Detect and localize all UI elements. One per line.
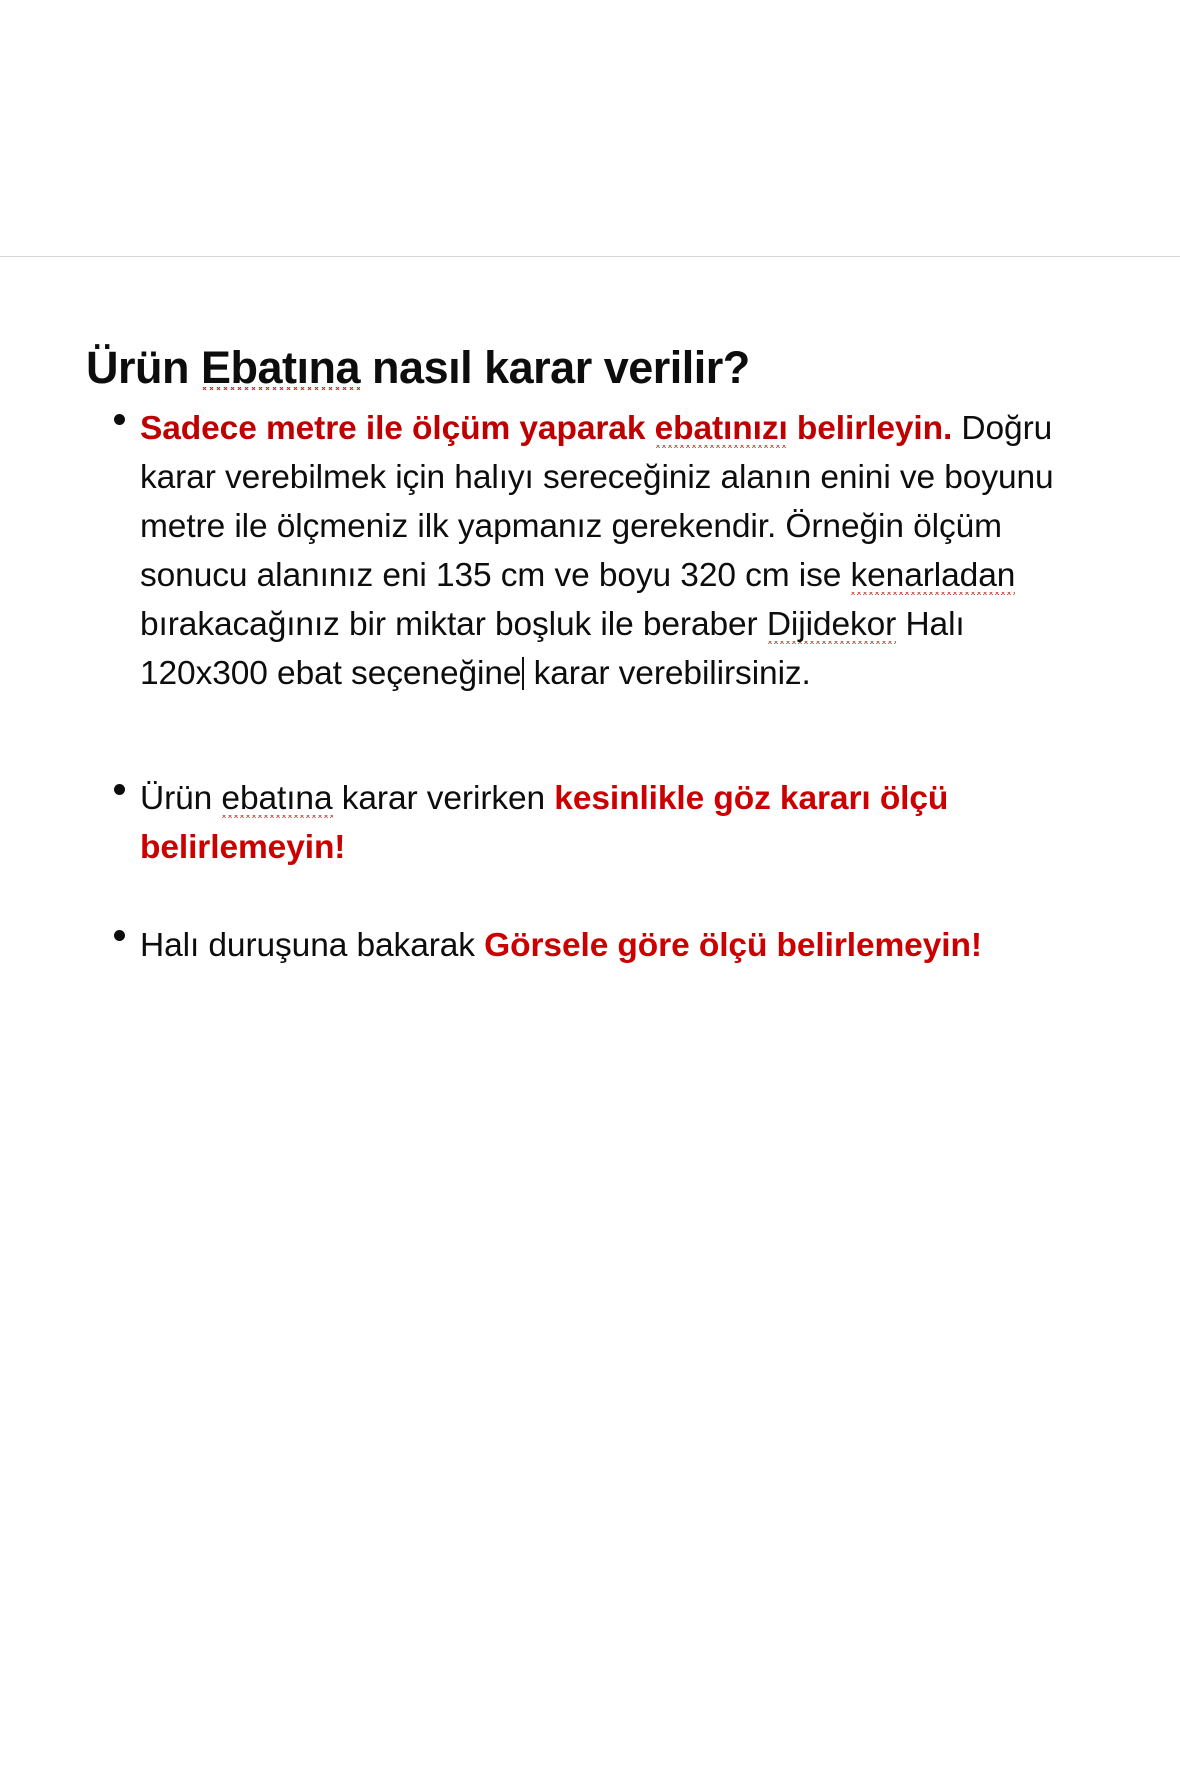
bullet-1-text: Sadece metre ile ölçüm yaparak ebatınızı… bbox=[140, 404, 1096, 698]
spacer-after-bullet-2 bbox=[86, 873, 1096, 921]
page-title: Ürün Ebatına nasıl karar verilir? bbox=[86, 344, 750, 391]
list-item: Ürün ebatına karar verirken kesinlikle g… bbox=[86, 774, 1096, 872]
b2-misspelled-ebatina: ebatına bbox=[221, 780, 332, 819]
list-item: Halı duruşuna bakarak Görsele göre ölçü … bbox=[86, 921, 1096, 970]
b1-seg-6: bırakacağınız bir miktar boşluk ile bera… bbox=[140, 606, 767, 643]
b1-seg-3: belirleyin. bbox=[788, 410, 953, 447]
title-misspelled-word: Ebatına bbox=[201, 342, 360, 395]
list-item: Sadece metre ile ölçüm yaparak ebatınızı… bbox=[86, 404, 1096, 698]
b2-seg-3: karar verirken bbox=[333, 780, 555, 817]
title-part-after: nasıl karar verilir? bbox=[360, 342, 750, 393]
bullet-2-text: Ürün ebatına karar verirken kesinlikle g… bbox=[140, 774, 1096, 872]
slide-page: Ürün Ebatına nasıl karar verilir? Sadece… bbox=[0, 0, 1180, 1770]
b1-misspelled-ebatinizi: ebatınızı bbox=[655, 410, 788, 449]
spacer-after-bullet-1 bbox=[86, 698, 1096, 774]
b1-seg-10: karar verebilirsiniz. bbox=[524, 655, 810, 692]
b2-seg-1: Ürün bbox=[140, 780, 221, 817]
title-part-before: Ürün bbox=[86, 342, 201, 393]
bullet-3-text: Halı duruşuna bakarak Görsele göre ölçü … bbox=[140, 921, 1096, 970]
b1-misspelled-kenarladan: kenarladan bbox=[850, 557, 1015, 596]
top-divider bbox=[0, 256, 1180, 257]
b1-misspelled-dijidekor: Dijidekor bbox=[767, 606, 896, 645]
bullet-point-icon bbox=[114, 784, 125, 795]
bullet-point-icon bbox=[114, 414, 125, 425]
bullet-list: Sadece metre ile ölçüm yaparak ebatınızı… bbox=[86, 404, 1096, 970]
b3-seg-1: Halı duruşuna bakarak bbox=[140, 927, 484, 964]
b1-seg-1: Sadece metre ile ölçüm yaparak bbox=[140, 410, 655, 447]
bullet-point-icon bbox=[114, 930, 125, 941]
b3-seg-2-emphasis: Görsele göre ölçü belirlemeyin! bbox=[484, 927, 982, 964]
